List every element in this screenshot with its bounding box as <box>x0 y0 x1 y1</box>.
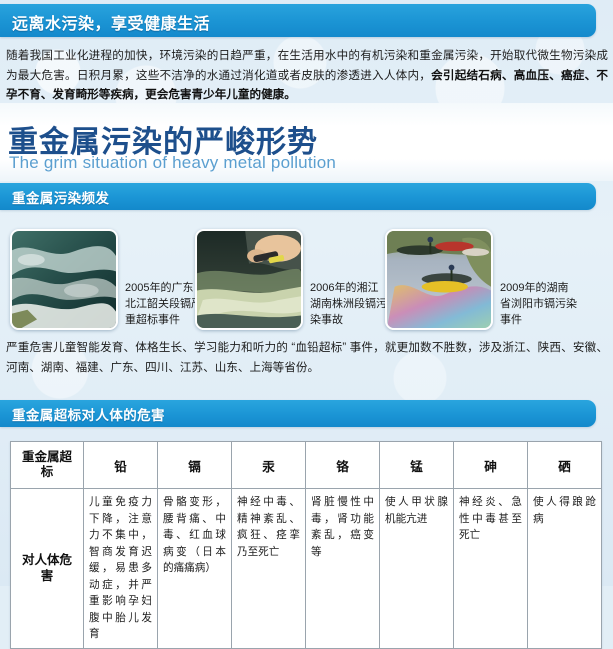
top-banner: 远离水污染，享受健康生活 <box>0 4 596 37</box>
photo-item: 2005年的广东北江韶关段镉严重超标事件 <box>10 222 203 330</box>
photo-caption: 2005年的广东北江韶关段镉严重超标事件 <box>125 280 203 330</box>
table-body: 对人体危害 儿童免疫力下降，注意力不集中，智商发育迟缓，易患多动症，并严重影响孕… <box>11 489 602 649</box>
column-header-lead: 铅 <box>84 442 158 489</box>
column-header-mercury: 汞 <box>232 442 306 489</box>
photo-item: 2006年的湘江湖南株洲段镉污染事故 <box>195 222 388 330</box>
polluted-river-photo <box>10 229 118 330</box>
photo-caption: 2006年的湘江湖南株洲段镉污染事故 <box>310 280 388 330</box>
page-subtitle: The grim situation of heavy metal pollut… <box>9 153 336 173</box>
row-header-harm-to-body: 对人体危害 <box>11 489 84 649</box>
cell-harm-selenium: 使人得踉跄病 <box>528 489 602 649</box>
table-corner-header: 重金属超标 <box>11 442 84 489</box>
photo-gallery: 2005年的广东北江韶关段镉严重超标事件 <box>0 222 613 332</box>
blood-lead-paragraph: 严重危害儿童智能发育、体格生长、学习能力和听力的 “血铅超标” 事件，就更加数不… <box>6 338 608 377</box>
oil-slick-boats-photo <box>385 229 493 330</box>
photo-item: 2009年的湖南省浏阳市镉污染事件 <box>385 222 578 330</box>
column-header-cadmium: 镉 <box>158 442 232 489</box>
section-header-label: 重金属污染频发 <box>12 187 109 207</box>
cell-harm-lead: 儿童免疫力下降，注意力不集中，智商发育迟缓，易患多动症，并严重影响孕妇腹中胎儿发… <box>84 489 158 649</box>
photo-caption: 2009年的湖南省浏阳市镉污染事件 <box>500 280 578 330</box>
heavy-metal-harm-table: 重金属超标 铅 镉 汞 铬 锰 砷 硒 对人体危害 儿童免疫力下降，注意力不集中… <box>10 441 602 649</box>
table-header: 重金属超标 铅 镉 汞 铬 锰 砷 硒 <box>11 442 602 489</box>
section-header-frequent-pollution: 重金属污染频发 <box>0 183 596 210</box>
cell-harm-cadmium: 骨骼变形，腰背痛、中毒、红血球病变（日本的痛痛病） <box>158 489 232 649</box>
column-header-manganese: 锰 <box>380 442 454 489</box>
column-header-selenium: 硒 <box>528 442 602 489</box>
table-row: 对人体危害 儿童免疫力下降，注意力不集中，智商发育迟缓，易患多动症，并严重影响孕… <box>11 489 602 649</box>
cell-harm-manganese: 使人甲状腺机能亢进 <box>380 489 454 649</box>
table-header-row: 重金属超标 铅 镉 汞 铬 锰 砷 硒 <box>11 442 602 489</box>
column-header-chromium: 铬 <box>306 442 380 489</box>
cell-harm-chromium: 肾脏慢性中毒，肾功能紊乱，癌变等 <box>306 489 380 649</box>
hero-heading-block: 重金属污染的严峻形势 The grim situation of heavy m… <box>0 103 613 181</box>
harm-table-wrapper: 重金属超标 铅 镉 汞 铬 锰 砷 硒 对人体危害 儿童免疫力下降，注意力不集中… <box>10 441 602 649</box>
intro-paragraph: 随着我国工业化进程的加快，环境污染的日趋严重，在生活用水中的有机污染和重金属污染… <box>6 46 608 105</box>
section-header-health-harm: 重金属超标对人体的危害 <box>0 400 596 427</box>
column-header-arsenic: 砷 <box>454 442 528 489</box>
section-header-label: 重金属超标对人体的危害 <box>12 404 165 424</box>
top-banner-title: 远离水污染，享受健康生活 <box>12 10 210 34</box>
cell-harm-mercury: 神经中毒、精神紊乱、疯狂、痉挛乃至死亡 <box>232 489 306 649</box>
water-sampling-photo <box>195 229 303 330</box>
page-content: 远离水污染，享受健康生活 随着我国工业化进程的加快，环境污染的日趋严重，在生活用… <box>0 0 613 586</box>
cell-harm-arsenic: 神经炎、急性中毒甚至死亡 <box>454 489 528 649</box>
